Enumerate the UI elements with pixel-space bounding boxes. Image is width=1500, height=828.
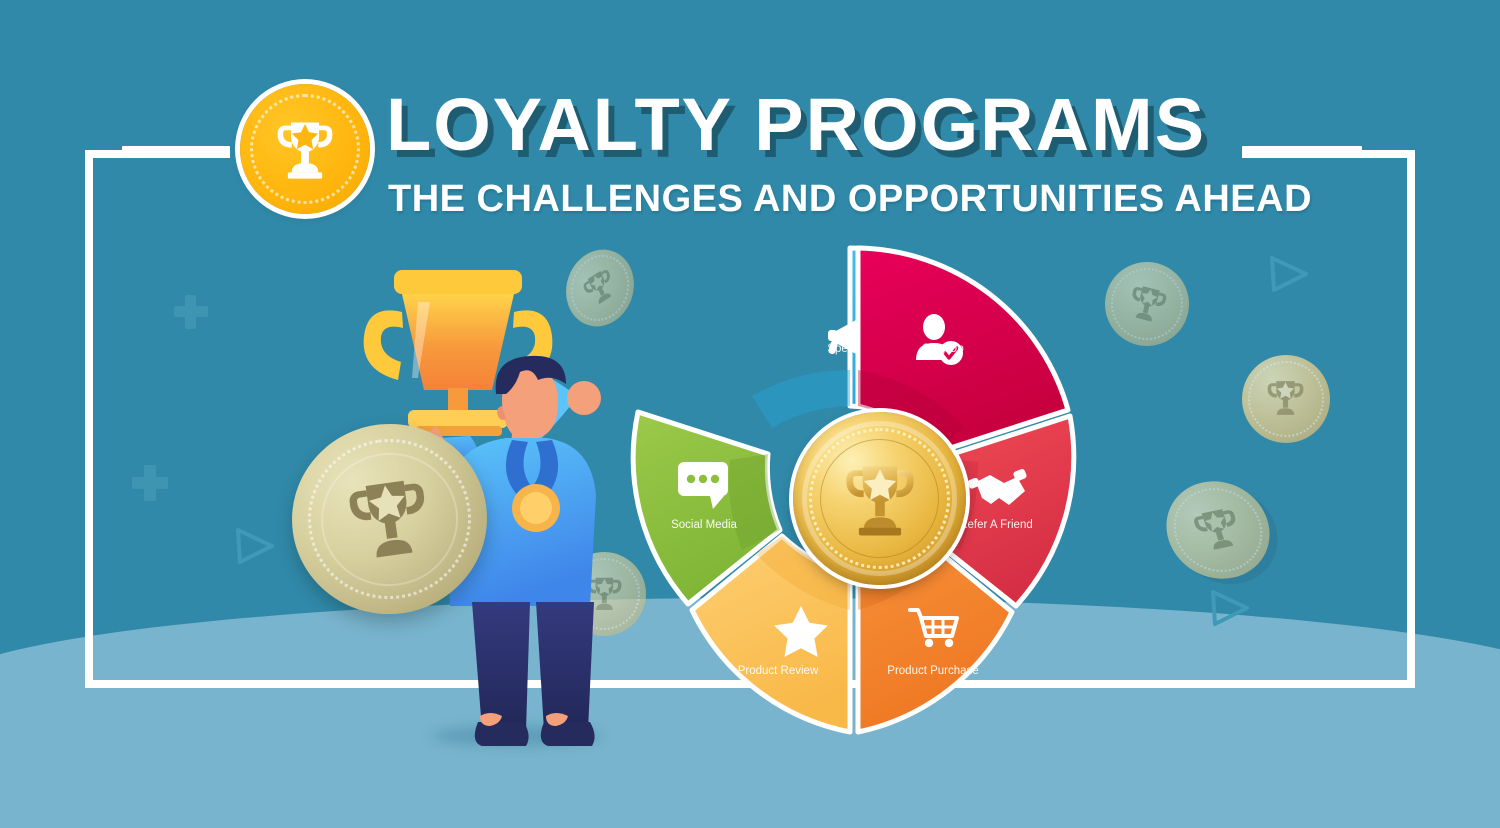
page-subtitle: THE CHALLENGES AND OPPORTUNITIES AHEAD (388, 180, 1312, 218)
header: LOYALTY PROGRAMS THE CHALLENGES AND OPPO… (0, 0, 1500, 240)
segment-label-product-review: Product Review (738, 665, 819, 677)
segment-label-social-media: Social Media (671, 519, 737, 531)
title-rule-left (122, 146, 230, 153)
floating-coin-5 (1153, 472, 1282, 588)
plus-decoration-1-v (185, 295, 196, 329)
infographic-canvas: LOYALTY PROGRAMS THE CHALLENGES AND OPPO… (0, 0, 1500, 828)
floating-coin-4 (1242, 355, 1330, 443)
trophy-coin-icon (266, 110, 344, 188)
center-trophy-coin (793, 412, 966, 585)
floating-coin-3 (1096, 253, 1198, 355)
logo-coin (240, 84, 370, 214)
trophy-coin-icon (1260, 373, 1311, 424)
page-title: LOYALTY PROGRAMS (386, 88, 1206, 162)
title-rule-right (1242, 146, 1362, 153)
trophy-coin-icon (328, 459, 451, 580)
plus-decoration-2-v (144, 465, 156, 501)
segment-label-sing-up: Sing-Up (922, 343, 964, 355)
segment-label-refer-a-friend: Refer A Friend (959, 519, 1033, 531)
segment-label-product-purchase: Product Purchase (887, 665, 978, 677)
trophy-coin-icon (832, 451, 928, 547)
